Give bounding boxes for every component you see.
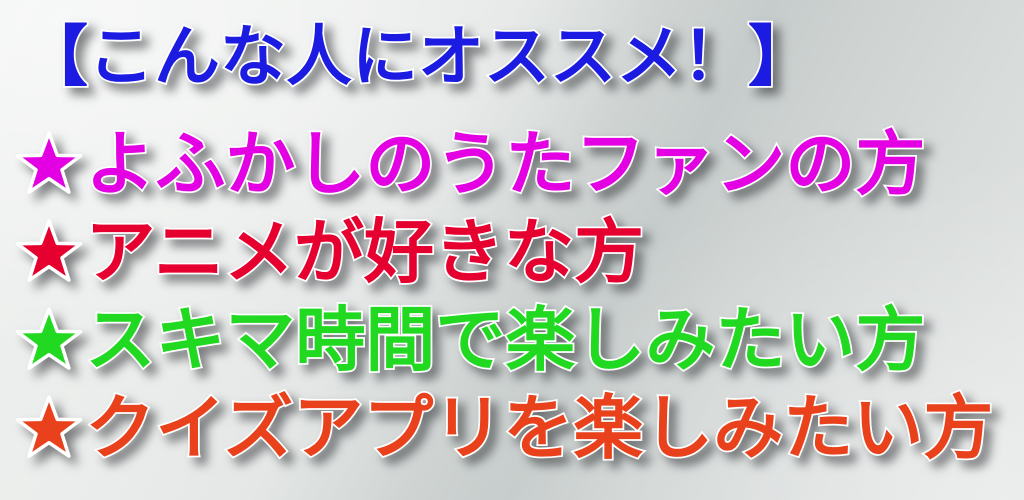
bullet-line-3: スキマ時間で楽しみたい方 xyxy=(0,305,925,375)
bullet-text-3: スキマ時間で楽しみたい方 xyxy=(85,305,925,375)
bullet-line-4: クイズアプリを楽しみたい方 xyxy=(0,393,993,463)
headline-line: 【こんな人にオススメ！】 xyxy=(0,24,814,90)
bullet-text-1: よふかしのうたファンの方 xyxy=(85,129,925,199)
headline-text: 【こんな人にオススメ！】 xyxy=(22,24,814,90)
star-icon xyxy=(14,217,84,287)
star-icon xyxy=(14,305,84,375)
bullet-line-2: アニメが好きな方 xyxy=(0,217,644,287)
text-block: 【こんな人にオススメ！】 よふかしのうたファンの方 アニメが好きな方 xyxy=(0,0,1024,500)
star-icon xyxy=(14,393,84,463)
star-icon xyxy=(14,129,84,199)
bullet-line-1: よふかしのうたファンの方 xyxy=(0,129,925,199)
bullet-text-2: アニメが好きな方 xyxy=(85,217,644,287)
promo-banner: 【こんな人にオススメ！】 よふかしのうたファンの方 アニメが好きな方 xyxy=(0,0,1024,500)
bullet-text-4: クイズアプリを楽しみたい方 xyxy=(85,393,993,463)
